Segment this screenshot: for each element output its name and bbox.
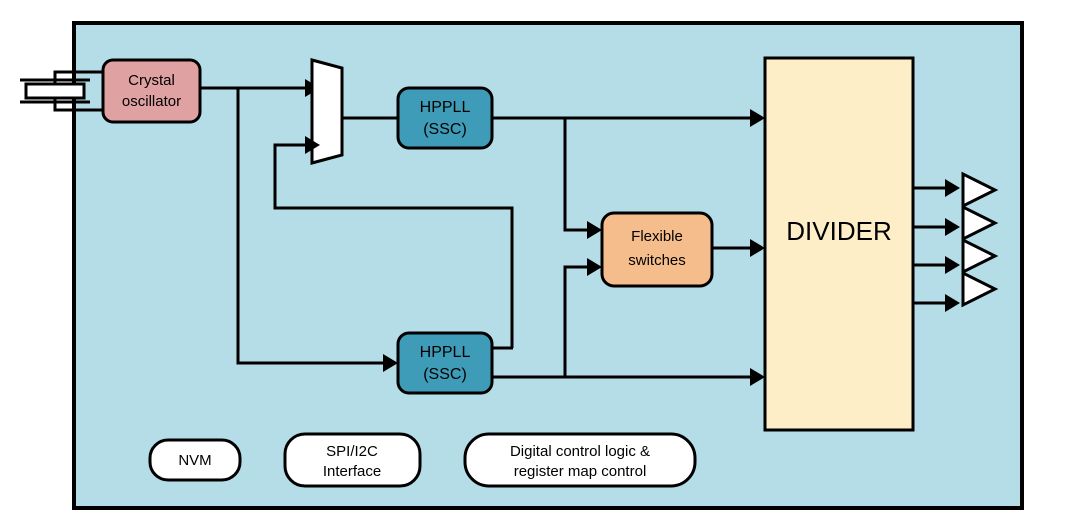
- digital-control-block[interactable]: Digital control logic & register map con…: [465, 434, 695, 486]
- block-diagram: Crystal oscillator HPP: [0, 0, 1067, 530]
- hppll-bottom-label-line1: HPPLL: [420, 344, 471, 361]
- flexible-switches-label-line1: Flexible: [631, 228, 683, 245]
- spi-i2c-label-line1: SPI/I2C: [326, 443, 378, 460]
- spi-i2c-label-line2: Interface: [323, 463, 381, 480]
- input-mux[interactable]: [312, 60, 342, 163]
- flexible-switches-label-line2: switches: [628, 252, 686, 269]
- crystal-oscillator-label-line2: oscillator: [122, 93, 181, 110]
- digital-control-label-line2: register map control: [514, 463, 647, 480]
- spi-i2c-block[interactable]: SPI/I2C Interface: [285, 434, 420, 486]
- crystal-oscillator-label-line1: Crystal: [128, 72, 175, 89]
- hppll-bottom-block[interactable]: HPPLL (SSC): [398, 333, 492, 393]
- digital-control-label-line1: Digital control logic &: [510, 443, 650, 460]
- nvm-block[interactable]: NVM: [150, 440, 240, 480]
- hppll-top-label-line1: HPPLL: [420, 99, 471, 116]
- flexible-switches-block[interactable]: Flexible switches: [602, 213, 712, 286]
- nvm-label: NVM: [178, 452, 211, 469]
- hppll-top-label-line2: (SSC): [423, 121, 467, 138]
- hppll-bottom-label-line2: (SSC): [423, 366, 467, 383]
- divider-block[interactable]: DIVIDER: [765, 58, 913, 430]
- divider-label: DIVIDER: [786, 216, 891, 246]
- crystal-oscillator-block[interactable]: Crystal oscillator: [103, 60, 200, 122]
- hppll-top-block[interactable]: HPPLL (SSC): [398, 88, 492, 148]
- diagram-canvas: Crystal oscillator HPP: [0, 0, 1067, 530]
